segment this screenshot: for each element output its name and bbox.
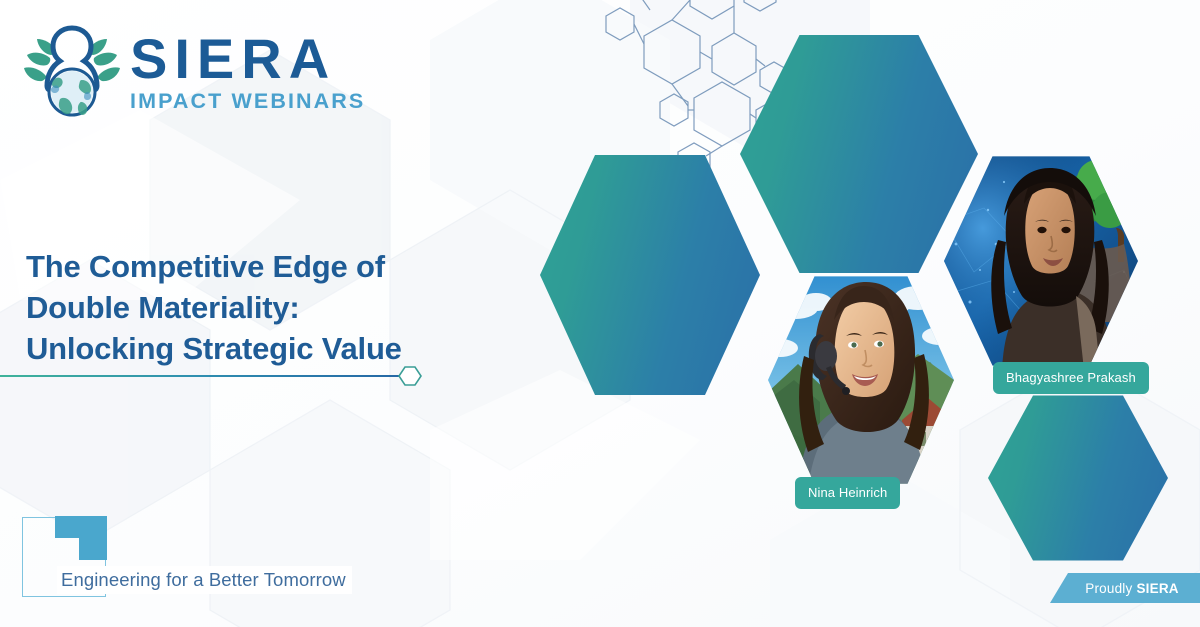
divider-line [0,375,410,377]
brand-logo: SIERA IMPACT WEBINARS [20,22,365,122]
proudly-prefix: Proudly [1085,581,1132,596]
brand-subtitle: IMPACT WEBINARS [130,91,365,113]
speaker-name-badge-nina: Nina Heinrich [795,477,900,509]
speaker-name-badge-bhagyashree: Bhagyashree Prakash [993,362,1149,394]
woman-globe-leaves-logo-icon [20,22,124,122]
company-tagline: Engineering for a Better Tomorrow [57,566,352,594]
title-line-2: Double Materiality: [26,287,546,328]
brand-name: SIERA [130,31,365,87]
hexagon-outline-icon [398,365,422,387]
title-divider [0,364,430,388]
page-title: The Competitive Edge of Double Materiali… [26,246,546,370]
proudly-brand: SIERA [1136,581,1178,596]
title-line-1: The Competitive Edge of [26,246,546,287]
proudly-siera-badge: Proudly SIERA [1050,573,1200,603]
webinar-promo-banner: SIERA IMPACT WEBINARS The Competitive Ed… [0,0,1200,627]
mark-corner-horizontal [55,516,107,538]
